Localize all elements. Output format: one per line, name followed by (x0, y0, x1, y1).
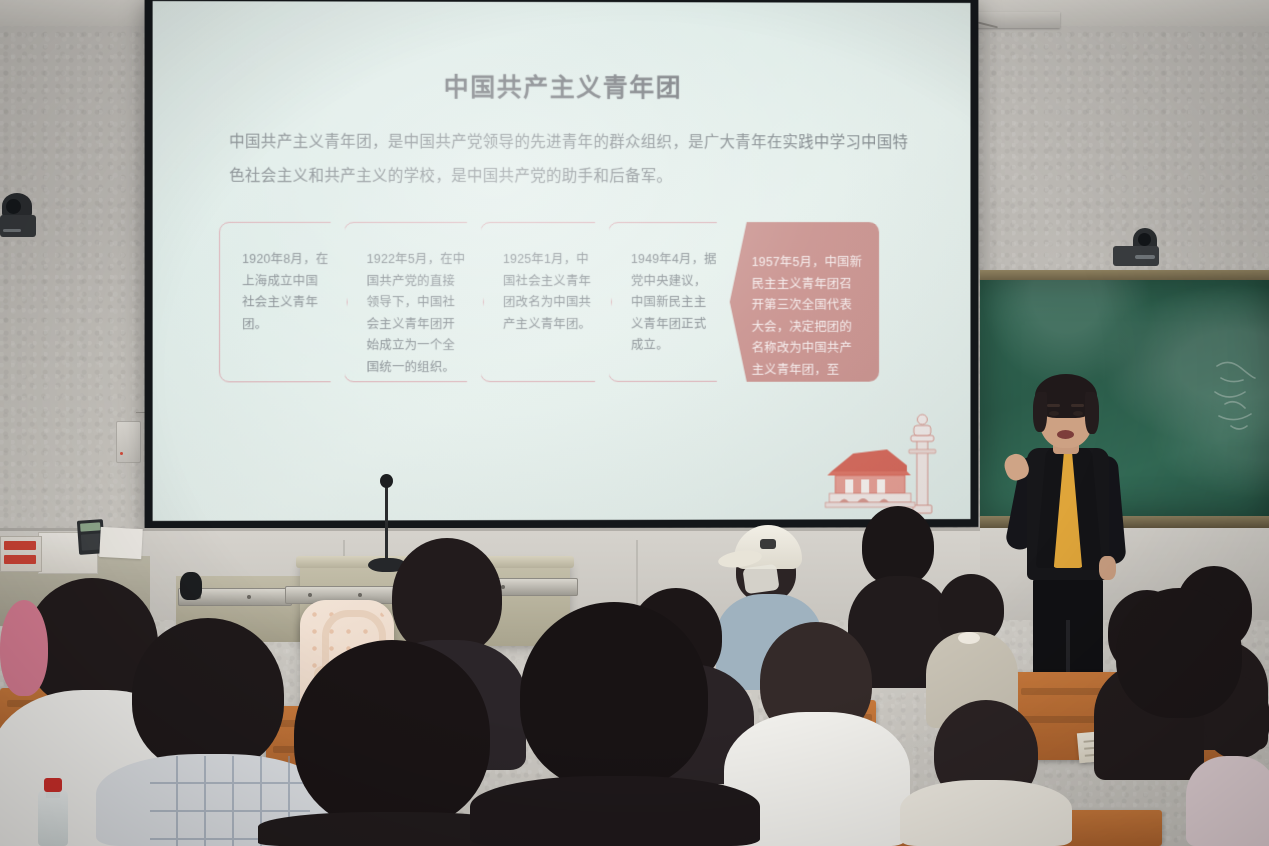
timeline-step-5-highlighted: 1957年5月，中国新民主主义青年团召开第三次全国代表大会，决定把团的名称改为中… (730, 222, 879, 382)
student-head (1116, 588, 1242, 718)
ptz-camera-icon (0, 193, 36, 245)
teacher-resting-hand (1099, 556, 1116, 580)
camera-indicator-strip (1135, 255, 1155, 259)
timeline-step-1: 1920年8月，在上海成立中国社会主义青年团。 (219, 222, 348, 382)
student-torso (1186, 756, 1269, 846)
hair-tie (958, 632, 980, 644)
tray-fastener (247, 595, 251, 599)
student-head (520, 602, 708, 790)
tray-fastener (501, 585, 505, 589)
student-head (132, 618, 284, 772)
timeline-step-3: 1925年1月，中国社会主义青年团改名为中国共产主义青年团。 (480, 222, 612, 382)
student-pink-top (0, 600, 48, 696)
camera-body (0, 215, 36, 237)
teacher-eye-left (1049, 411, 1059, 416)
timeline-step-1-text: 1920年8月，在上海成立中国社会主义青年团。 (242, 252, 328, 331)
box-stripe (4, 541, 36, 550)
blackboard-top-rail (980, 270, 1269, 280)
student-torso (470, 776, 760, 846)
red-striped-box (0, 536, 42, 572)
secondary-microphone-icon (180, 572, 202, 600)
calculator-screen (80, 522, 101, 531)
face-mask (742, 564, 779, 594)
timeline-step-4: 1949年4月，据党中央建议，中国新民主主义青年团正式成立。 (608, 222, 734, 382)
timeline-step-4-text: 1949年4月，据党中央建议，中国新民主主义青年团正式成立。 (631, 252, 717, 352)
presentation-slide: 中国共产主义青年团 中国共产主义青年团，是中国共产党领导的先进青年的群众组织，是… (153, 1, 971, 521)
camera-glass (6, 199, 21, 214)
ptz-camera-icon (1113, 228, 1159, 268)
bottle-cap-icon (44, 778, 62, 792)
camera-indicator-strip (3, 229, 21, 232)
slide-paragraph: 中国共产主义青年团，是中国共产党领导的先进青年的群众组织，是广大青年在实践中学习… (229, 126, 911, 195)
teacher-mouth (1057, 430, 1074, 439)
tray-fastener (358, 593, 362, 597)
slide-title: 中国共产主义青年团 (153, 67, 971, 104)
student-head (392, 538, 502, 656)
wall-control-box[interactable] (116, 421, 141, 463)
teacher-eyebrow-left (1047, 404, 1060, 407)
water-bottle (38, 790, 68, 846)
teacher-eyebrow-right (1071, 404, 1084, 407)
camera-glass (1138, 233, 1151, 246)
power-led-icon (120, 452, 123, 455)
timeline-step-2-text: 1922年5月，在中国共产党的直接领导下，中国社会主义青年团开始成立为一个全国统… (367, 252, 466, 374)
cap-logo (760, 539, 776, 549)
teacher-hair-right (1085, 392, 1099, 434)
projection-screen: 中国共产主义青年团 中国共产主义青年团，是中国共产党领导的先进青年的群众组织，是… (145, 0, 979, 529)
timeline-step-2: 1922年5月，在中国共产党的直接领导下，中国社会主义青年团开始成立为一个全国统… (344, 222, 484, 382)
wall-panel-seam (636, 540, 638, 610)
student-torso (900, 780, 1072, 846)
teacher-hair-left (1033, 392, 1047, 432)
microphone-icon (380, 474, 393, 488)
chalk-writing (1209, 352, 1265, 440)
timeline-step-5-text: 1957年5月，中国新民主主义青年团召开第三次全国代表大会，决定把团的名称改为中… (752, 255, 863, 398)
student-head (862, 506, 934, 586)
student-head (294, 640, 490, 830)
box-stripe (4, 555, 36, 564)
classroom-scene: 中国共产主义青年团 中国共产主义青年团，是中国共产党领导的先进青年的群众组织，是… (0, 0, 1269, 846)
timeline-flowchart: 1920年8月，在上海成立中国社会主义青年团。 1922年5月，在中国共产党的直… (219, 222, 919, 382)
tray-fastener (308, 593, 312, 597)
paper-sheet (99, 527, 143, 559)
teacher-eye-right (1073, 411, 1083, 416)
timeline-step-3-text: 1925年1月，中国社会主义青年团改名为中国共产主义青年团。 (503, 252, 591, 331)
gooseneck-microphone-stand (385, 481, 388, 563)
tiananmen-huabiao-icon (821, 406, 960, 521)
